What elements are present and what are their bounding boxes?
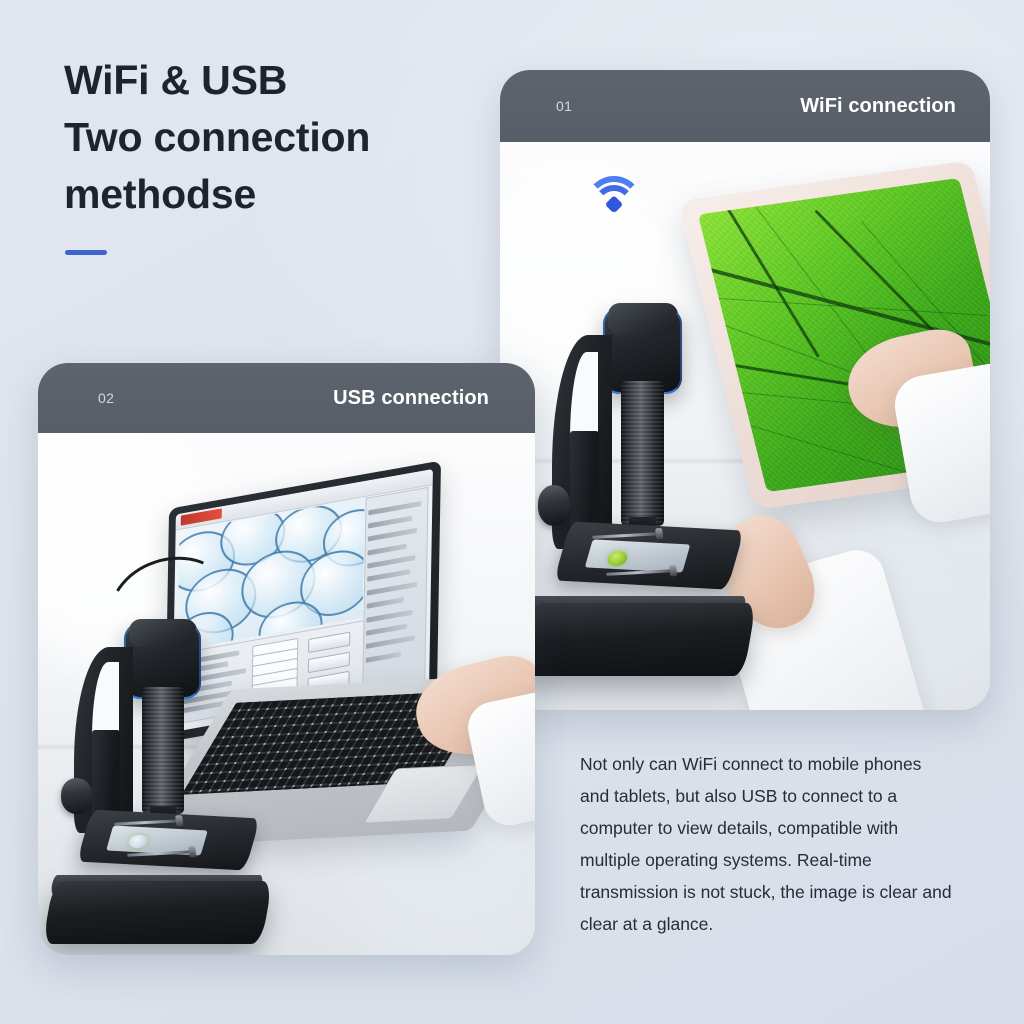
focus-knob [61,778,92,814]
app-logo-icon [181,509,222,526]
card-photo-usb [38,433,535,955]
card-index-label: 02 [98,390,114,406]
software-sidebar[interactable] [362,487,429,692]
card-header: 01 WiFi connection [500,70,990,142]
record-button[interactable] [307,651,350,673]
card-title-label: WiFi connection [800,95,956,118]
page-title: WiFi & USB Two connection methodse [64,52,494,223]
focus-knob [538,485,570,526]
wifi-icon [588,176,640,216]
card-header: 02 USB connection [38,363,535,433]
card-index-label: 01 [556,98,572,114]
headline-line-3: methodse [64,166,494,223]
card-wifi-connection[interactable]: 01 WiFi connection [500,70,990,710]
headline-line-2: Two connection [64,109,494,166]
digital-microscope [48,548,267,945]
digital-microscope [525,222,750,676]
headline-line-1: WiFi & USB [64,52,494,109]
card-title-label: USB connection [333,387,489,410]
product-feature-poster: WiFi & USB Two connection methodse 01 Wi… [0,0,1024,1024]
card-usb-connection[interactable]: 02 USB connection [38,363,535,955]
accent-underline [65,250,107,255]
description-paragraph: Not only can WiFi connect to mobile phon… [580,748,955,940]
card-photo-wifi [500,142,990,710]
capture-button[interactable] [308,632,351,654]
